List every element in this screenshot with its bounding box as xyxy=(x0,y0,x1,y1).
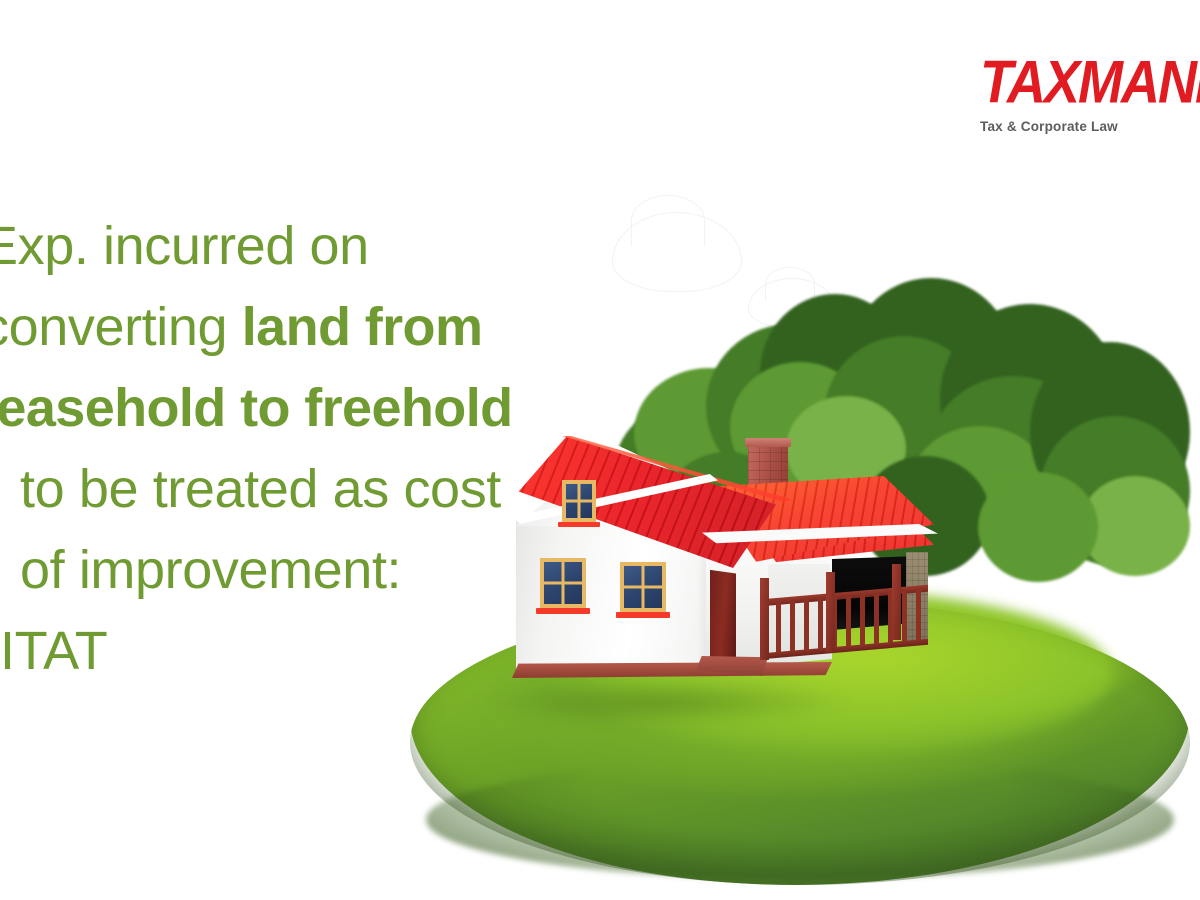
house-icon xyxy=(510,438,930,698)
front-window-left-sill xyxy=(536,608,590,614)
logo-wordmark: TAXMANN xyxy=(980,52,1200,112)
headline-line-5-text: of improvement: xyxy=(20,540,401,600)
headline-line-1-text: Exp. incurred on xyxy=(0,216,369,276)
logo-tagline: Tax & Corporate Law xyxy=(980,120,1200,134)
chimney-cap xyxy=(745,438,791,447)
headline-line-2-regular: converting xyxy=(0,297,242,357)
house-foundation xyxy=(512,662,832,678)
house-island-illustration xyxy=(400,270,1200,890)
porch-post xyxy=(826,572,835,652)
headline-line-6-text: ITAT xyxy=(0,621,107,681)
porch-railing xyxy=(762,588,928,658)
front-door xyxy=(710,568,736,660)
porch-post xyxy=(760,578,769,660)
attic-window-sill xyxy=(558,522,600,527)
porch-post xyxy=(892,564,901,640)
poster-canvas: Exp. incurred on converting land from le… xyxy=(0,0,1200,900)
attic-window xyxy=(562,480,596,522)
taxmann-logo[interactable]: TAXMANN Tax & Corporate Law xyxy=(980,52,1200,134)
front-window-right xyxy=(620,562,666,612)
front-window-right-sill xyxy=(616,612,670,618)
front-window-left xyxy=(540,558,586,608)
